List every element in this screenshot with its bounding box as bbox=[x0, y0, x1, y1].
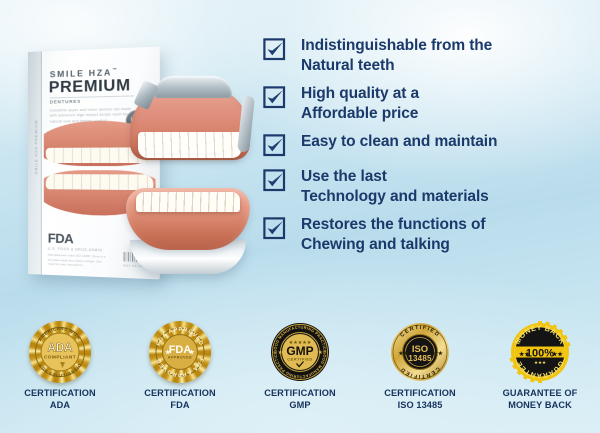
svg-text:★★: ★★ bbox=[552, 351, 563, 358]
feature-line-1: Use the last bbox=[301, 168, 387, 185]
ada-center-sub: COMPLIANT bbox=[44, 355, 76, 361]
svg-text:★★: ★★ bbox=[433, 350, 444, 357]
svg-text:★★★: ★★★ bbox=[534, 360, 547, 365]
ada-center-text: ADA bbox=[48, 343, 73, 355]
box-spine-text: SMILE HZA PREMIUM bbox=[33, 126, 38, 174]
badge-caption-line-2: ADA bbox=[1, 399, 119, 411]
product-photo: SMILE HZA PREMIUM SMILE HZA™ PREMIUM DEN… bbox=[0, 18, 262, 310]
svg-text:★: ★ bbox=[318, 350, 323, 356]
model-lower-jaw bbox=[126, 188, 250, 250]
badge-ada: AMERICANS WITH DISABILITIES ACT ADA COMP… bbox=[1, 321, 119, 412]
feature-item: High quality at aAffordable price bbox=[263, 84, 593, 123]
checkbox-checked-icon bbox=[263, 169, 287, 193]
feature-item: Use the lastTechnology and materials bbox=[263, 167, 593, 206]
feature-item: Indistinguishable from theNatural teeth bbox=[263, 36, 593, 75]
certification-badge-strip: AMERICANS WITH DISABILITIES ACT ADA COMP… bbox=[0, 315, 600, 433]
gmp-seal-icon: GOOD MANUFACTURING PRACTICE GOOD MANUFAC… bbox=[269, 321, 331, 383]
box-fda-sublabel: U.S. FOOD & DRUG ADMIN bbox=[48, 247, 103, 253]
feature-text: Easy to clean and maintain bbox=[301, 132, 497, 152]
badge-caption-line-2: MONEY BACK bbox=[481, 399, 599, 411]
money-back-seal-icon: MONEY BACK GUARANTEE 100% ★★ ★★ SATISFAC… bbox=[509, 321, 571, 383]
feature-item: Restores the functions ofChewing and tal… bbox=[263, 215, 593, 254]
ada-seal-icon: AMERICANS WITH DISABILITIES ACT ADA COMP… bbox=[29, 321, 91, 383]
checkbox-checked-icon bbox=[263, 38, 287, 62]
feature-line-1: Indistinguishable from the bbox=[301, 37, 492, 54]
feature-line-2: Natural teeth bbox=[301, 57, 394, 74]
badge-caption-line-2: GMP bbox=[241, 399, 359, 411]
badge-caption: CERTIFICATION ISO 13485 bbox=[361, 387, 479, 412]
badge-caption: CERTIFICATION ADA bbox=[1, 387, 119, 412]
badge-caption-line-1: CERTIFICATION bbox=[384, 388, 456, 398]
svg-text:★★: ★★ bbox=[399, 350, 410, 357]
box-spine: SMILE HZA PREMIUM bbox=[28, 51, 42, 274]
feature-line-1: Easy to clean and maintain bbox=[301, 133, 497, 150]
money-back-center-text: 100% bbox=[526, 348, 554, 360]
svg-text:★: ★ bbox=[165, 349, 171, 356]
gmp-center-sub: CERTIFIED bbox=[287, 357, 313, 362]
feature-line-1: High quality at a bbox=[301, 85, 419, 102]
checkbox-checked-icon bbox=[263, 217, 287, 241]
promo-poster: SMILE HZA PREMIUM SMILE HZA™ PREMIUM DEN… bbox=[0, 0, 600, 433]
fda-seal-icon: FDA APPROVED FDA APPROVED FDA APPROVED ★… bbox=[149, 321, 211, 383]
model-upper-teeth bbox=[138, 132, 242, 158]
badge-money-back: MONEY BACK GUARANTEE 100% ★★ ★★ SATISFAC… bbox=[481, 321, 599, 412]
badge-caption-line-2: FDA bbox=[121, 399, 239, 411]
feature-text: High quality at aAffordable price bbox=[301, 84, 419, 123]
badge-caption: GUARANTEE OF MONEY BACK bbox=[481, 387, 599, 412]
badge-caption-line-2: ISO 13485 bbox=[361, 399, 479, 411]
model-hinge bbox=[154, 76, 232, 98]
iso-seal-icon: CERTIFIED CERTIFIED ISO 13485 ★★ ★★ bbox=[389, 321, 451, 383]
model-lower-teeth bbox=[136, 192, 240, 212]
badge-caption-line-1: CERTIFICATION bbox=[264, 388, 336, 398]
feature-text: Restores the functions ofChewing and tal… bbox=[301, 215, 485, 254]
feature-text: Use the lastTechnology and materials bbox=[301, 167, 489, 206]
badge-caption-line-1: CERTIFICATION bbox=[24, 388, 96, 398]
svg-text:★★: ★★ bbox=[519, 351, 530, 358]
feature-text: Indistinguishable from theNatural teeth bbox=[301, 36, 492, 75]
fda-center-text: FDA bbox=[169, 344, 192, 356]
feature-line-2: Chewing and talking bbox=[301, 236, 450, 253]
dental-model bbox=[118, 68, 258, 288]
badge-caption-line-1: CERTIFICATION bbox=[144, 388, 216, 398]
feature-line-1: Restores the functions of bbox=[301, 216, 485, 233]
feature-line-2: Technology and materials bbox=[301, 188, 489, 205]
money-back-center-sub: SATISFACTION bbox=[527, 342, 553, 346]
badge-caption: CERTIFICATION GMP bbox=[241, 387, 359, 412]
badge-caption-line-1: GUARANTEE OF bbox=[503, 388, 578, 398]
box-product-subtitle: DENTURES bbox=[50, 99, 81, 105]
badge-caption: CERTIFICATION FDA bbox=[121, 387, 239, 412]
checkbox-checked-icon bbox=[263, 86, 287, 110]
badge-iso: CERTIFIED CERTIFIED ISO 13485 ★★ ★★ CERT… bbox=[361, 321, 479, 412]
badge-gmp: GOOD MANUFACTURING PRACTICE GOOD MANUFAC… bbox=[241, 321, 359, 412]
feature-line-2: Affordable price bbox=[301, 105, 418, 122]
svg-text:★: ★ bbox=[189, 349, 195, 356]
svg-text:★: ★ bbox=[278, 350, 283, 356]
trademark-symbol: ™ bbox=[112, 67, 117, 72]
iso-center-sub: 13485 bbox=[408, 354, 432, 363]
badge-fda: FDA APPROVED FDA APPROVED FDA APPROVED ★… bbox=[121, 321, 239, 412]
box-fda-logo: FDA bbox=[48, 232, 73, 246]
fda-center-sub: APPROVED bbox=[168, 356, 192, 360]
checkbox-checked-icon bbox=[263, 134, 287, 158]
feature-item: Easy to clean and maintain bbox=[263, 132, 593, 158]
feature-list: Indistinguishable from theNatural teeth … bbox=[263, 36, 593, 254]
box-legal-text: Manufactured under ISO 13485. Store in a… bbox=[48, 253, 109, 269]
